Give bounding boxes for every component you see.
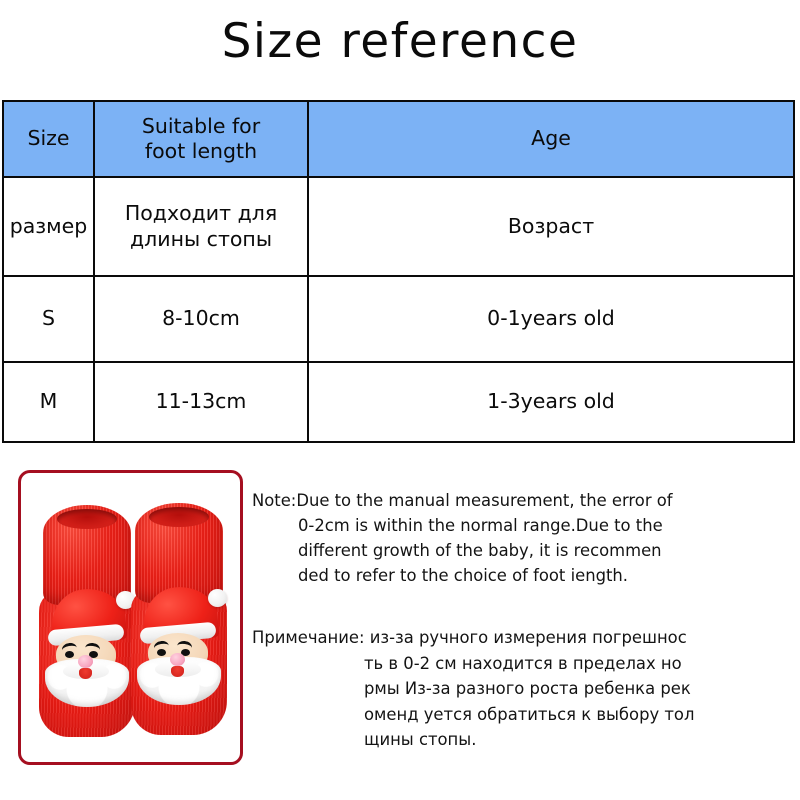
header-foot-length-line1: Suitable for xyxy=(99,114,303,139)
sock-opening xyxy=(149,507,209,527)
size-reference-table: Size Suitable for foot length Age размер… xyxy=(2,100,795,443)
sock-opening xyxy=(57,509,117,529)
santa-face-ornament xyxy=(45,589,131,707)
santa-nose xyxy=(78,655,93,668)
table-header-row-ru: размер Подходит для длины стопы Возраст xyxy=(3,177,794,276)
header-foot-length-ru-line1: Подходит для xyxy=(99,201,303,226)
note-russian-line: ть в 0-2 см находится в пределах но xyxy=(252,651,796,677)
header-cell-foot-length: Suitable for foot length xyxy=(94,101,308,177)
note-russian-line: рмы Из-за разного роста ребенка рек xyxy=(252,676,796,702)
header-cell-age-ru: Возраст xyxy=(308,177,794,276)
note-russian-line: щины стопы. xyxy=(252,727,796,753)
table-header-row-en: Size Suitable for foot length Age xyxy=(3,101,794,177)
santa-eye-left xyxy=(65,651,74,658)
cell-age-s: 0-1years old xyxy=(308,276,794,362)
page-title: Size reference xyxy=(0,12,800,72)
header-cell-size: Size xyxy=(3,101,94,177)
header-foot-length-ru-line2: длины стопы xyxy=(99,227,303,252)
cell-size-m: M xyxy=(3,362,94,442)
sock-right xyxy=(131,503,227,735)
product-photo-frame xyxy=(18,470,243,765)
note-english-line: different growth of the baby, it is reco… xyxy=(252,538,796,563)
header-foot-length-line2: foot length xyxy=(99,139,303,164)
note-english: Note:Due to the manual measurement, the … xyxy=(252,488,796,588)
table-row: M 11-13cm 1-3years old xyxy=(3,362,794,442)
santa-nose xyxy=(170,653,185,666)
note-russian: Примечание: из-за ручного измерения погр… xyxy=(252,625,796,753)
santa-eye-left xyxy=(157,649,166,656)
header-cell-foot-length-ru: Подходит для длины стопы xyxy=(94,177,308,276)
santa-face-ornament xyxy=(137,587,223,705)
santa-mouth xyxy=(171,666,184,677)
santa-pompom-icon xyxy=(208,589,227,607)
table-row: S 8-10cm 0-1years old xyxy=(3,276,794,362)
cell-size-s: S xyxy=(3,276,94,362)
cell-foot-length-m: 11-13cm xyxy=(94,362,308,442)
cell-age-m: 1-3years old xyxy=(308,362,794,442)
product-photo-santa-socks xyxy=(21,473,240,762)
header-cell-size-ru: размер xyxy=(3,177,94,276)
sock-left xyxy=(39,505,135,737)
note-english-line: 0-2cm is within the normal range.Due to … xyxy=(252,513,796,538)
header-cell-age: Age xyxy=(308,101,794,177)
note-english-line: ded to refer to the choice of foot iengt… xyxy=(252,563,796,588)
note-english-line: Note:Due to the manual measurement, the … xyxy=(252,488,796,513)
cell-foot-length-s: 8-10cm xyxy=(94,276,308,362)
santa-mouth xyxy=(79,668,92,679)
note-russian-line: оменд уется обратиться к выбору тол xyxy=(252,702,796,728)
note-russian-line: Примечание: из-за ручного измерения погр… xyxy=(252,625,796,651)
